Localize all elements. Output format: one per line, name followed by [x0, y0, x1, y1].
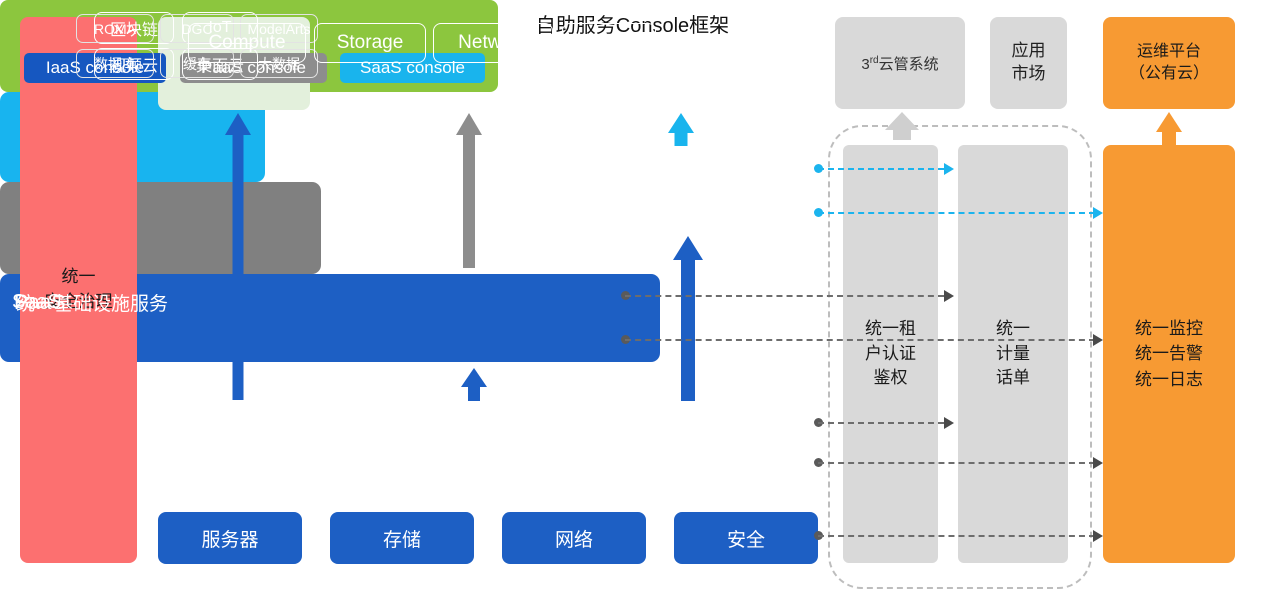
- arrow-saas-to-console: [668, 113, 694, 146]
- unified-monitoring-column: 统一监控 统一告警 统一日志: [1103, 145, 1235, 563]
- infrastructure-label: 统一基础设施服务: [16, 0, 168, 605]
- unified-tenant-auth-text: 统一租 户认证 鉴权: [865, 317, 916, 391]
- infra-storage-label: Storage: [337, 32, 404, 54]
- dashed-line-paas-to-auth: [625, 295, 944, 297]
- hardware-item-network[interactable]: 网络: [502, 512, 646, 564]
- infra-item-cce[interactable]: CCE: [562, 23, 656, 63]
- hardware-storage-label: 存储: [383, 525, 421, 552]
- hardware-network-label: 网络: [555, 525, 593, 552]
- app-market-text: 应用 市场: [1012, 40, 1046, 86]
- arrowhead-saas-to-auth: [944, 163, 954, 175]
- meter-line-1: 统一: [996, 317, 1030, 342]
- dashed-line-saas-to-ops: [818, 212, 1095, 214]
- unified-alarm-line: 统一告警: [1135, 341, 1203, 367]
- unified-monitoring-text: 统一监控 统一告警 统一日志: [1135, 316, 1203, 393]
- infra-compute-label: Compute: [208, 32, 285, 54]
- architecture-diagram: 统一 安全治理 API网关 自助服务Console框架 IaaS console…: [0, 0, 1265, 605]
- arrow-infra-to-paas: [461, 368, 487, 401]
- auth-line-3: 鉴权: [865, 366, 916, 391]
- auth-line-1: 统一租: [865, 317, 916, 342]
- third-party-prefix: 3: [861, 56, 869, 73]
- arrow-ops-column-to-ops-platform: [1156, 112, 1182, 146]
- dashed-line-infra-to-auth: [818, 422, 944, 424]
- unified-monitor-line: 统一监控: [1135, 316, 1203, 342]
- hardware-security-label: 安全: [727, 525, 765, 552]
- unified-metering-text: 统一 计量 话单: [996, 317, 1030, 391]
- app-market-line-1: 应用: [1012, 40, 1046, 63]
- arrowhead-paas-to-auth: [944, 290, 954, 302]
- arrow-infra-to-api-gateway: [225, 113, 251, 400]
- infra-item-compute[interactable]: Compute: [188, 23, 306, 63]
- arrowhead-paas-to-ops: [1093, 334, 1103, 346]
- unified-log-line: 统一日志: [1135, 367, 1203, 393]
- arrow-infra-to-saas: [673, 236, 703, 401]
- infra-item-storage[interactable]: Storage: [314, 23, 426, 63]
- infra-network-label: Network: [458, 32, 528, 54]
- third-party-superscript: rd: [870, 55, 879, 66]
- meter-line-3: 话单: [996, 366, 1030, 391]
- arrowhead-infra-to-ops: [1093, 457, 1103, 469]
- dashed-line-hardware-to-ops: [818, 535, 1095, 537]
- infra-cce-label: CCE: [589, 32, 629, 54]
- arrow-shared-to-third-party-cloud: [889, 112, 915, 140]
- app-market-line-2: 市场: [1012, 63, 1046, 86]
- third-party-cloud-label: 3rd云管系统: [861, 53, 938, 74]
- ops-platform-public-cloud-card: 运维平台 （公有云）: [1103, 17, 1235, 109]
- dashed-line-saas-to-auth: [818, 168, 944, 170]
- ops-platform-line-1: 运维平台: [1129, 41, 1209, 63]
- ops-platform-text: 运维平台 （公有云）: [1129, 41, 1209, 86]
- unified-tenant-auth-column: 统一租 户认证 鉴权: [843, 145, 938, 563]
- infra-item-network[interactable]: Network: [433, 23, 553, 63]
- hardware-item-server[interactable]: 服务器: [158, 512, 302, 564]
- app-market-card: 应用 市场: [990, 17, 1067, 109]
- arrow-paas-to-console: [456, 113, 482, 268]
- hardware-item-storage[interactable]: 存储: [330, 512, 474, 564]
- dashed-line-infra-to-ops: [818, 462, 1095, 464]
- arrowhead-hardware-to-ops: [1093, 530, 1103, 542]
- hardware-item-security[interactable]: 安全: [674, 512, 818, 564]
- dashed-line-paas-to-ops: [625, 339, 1095, 341]
- arrowhead-infra-to-auth: [944, 417, 954, 429]
- unified-metering-billing-column: 统一 计量 话单: [958, 145, 1068, 563]
- ops-platform-line-2: （公有云）: [1129, 63, 1209, 85]
- hardware-server-label: 服务器: [201, 525, 258, 552]
- third-party-rest: 云管系统: [879, 56, 939, 73]
- unified-infrastructure-services-bar: 统一基础设施服务 Compute Storage Network CCE: [0, 274, 660, 362]
- auth-line-2: 户认证: [865, 342, 916, 367]
- meter-line-2: 计量: [996, 342, 1030, 367]
- third-party-cloud-management-card: 3rd云管系统: [835, 17, 965, 109]
- arrowhead-saas-to-ops: [1093, 207, 1103, 219]
